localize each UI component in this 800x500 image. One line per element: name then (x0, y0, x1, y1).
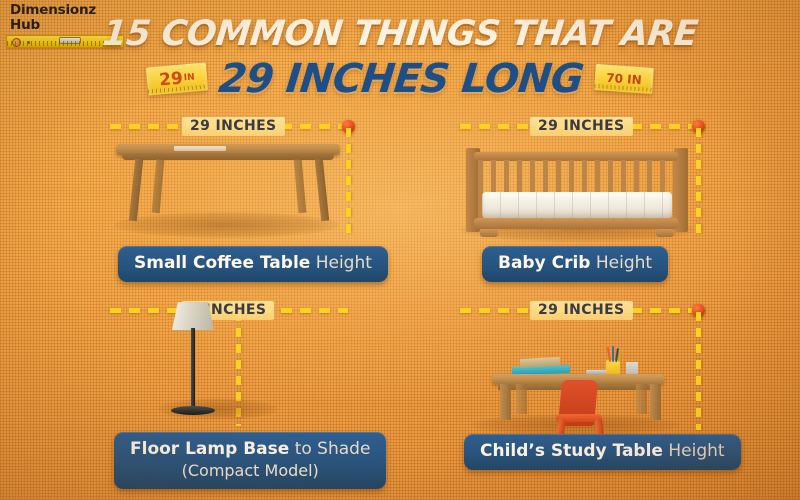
tape-measure-right-icon: 70 IN (594, 64, 654, 94)
coffee-table-illustration (110, 140, 346, 240)
item-childs-study-table: 29 INCHES Child’s Study Table (460, 308, 710, 488)
floor-lamp-illustration (110, 302, 346, 426)
table-leg (294, 159, 307, 213)
lamp-base (171, 406, 215, 415)
crib-foot-right (656, 229, 674, 237)
item-label-bold: Floor Lamp Base (130, 439, 289, 459)
table-leg (129, 159, 143, 221)
lamp-pole (191, 328, 195, 410)
measurement-label: 29 INCHES (182, 117, 285, 136)
baby-crib-illustration (460, 140, 700, 244)
crib-mattress (482, 192, 672, 218)
item-label-light: to Shade (295, 439, 371, 459)
headline-row-2: 29IN 29 INCHES LONG 70 IN (0, 56, 800, 102)
desk-leg (516, 384, 527, 414)
tape-left-value: 29 (158, 69, 183, 91)
pencil (612, 346, 614, 362)
table-apron (122, 153, 334, 160)
lamp-shade (172, 302, 214, 330)
item-label-banner: Baby Crib Height (482, 246, 668, 282)
measurement-label: 29 INCHES (530, 301, 633, 320)
dimension-line-vertical (346, 128, 351, 240)
item-label-bold: Small Coffee Table (134, 253, 310, 273)
item-label-banner: Child’s Study Table Height (464, 434, 741, 470)
item-label-light: Height (668, 441, 724, 461)
desk-leg (500, 384, 511, 420)
measurement-label: 29 INCHES (530, 117, 633, 136)
desk-leg (650, 384, 661, 420)
dimension-line-vertical (696, 312, 701, 430)
item-label-light: Height (316, 253, 372, 273)
table-leg (315, 159, 329, 221)
item-label-banner: Small Coffee Table Height (118, 246, 388, 282)
item-label-sub: (Compact Model) (130, 460, 370, 481)
crib-bottom-rail (474, 218, 678, 229)
table-top-inlay (174, 146, 226, 151)
item-label-bold: Baby Crib (498, 253, 590, 273)
item-label-bold: Child’s Study Table (480, 441, 663, 461)
mattress-quilting (482, 192, 672, 218)
object-shadow (114, 212, 339, 238)
item-baby-crib: 29 INCHES Baby Crib Height (460, 124, 710, 284)
tape-right-value: 70 IN (606, 71, 642, 87)
desk-leg (636, 384, 647, 414)
item-floor-lamp: 1 INCHES Floor Lamp Base to Shade (Compa… (110, 308, 350, 488)
headline-line-2: 29 INCHES LONG (217, 56, 586, 102)
crib-foot-left (480, 229, 498, 237)
table-leg (152, 159, 165, 213)
item-label-light: Height (596, 253, 652, 273)
item-label-banner: Floor Lamp Base to Shade (Compact Model) (114, 432, 386, 489)
study-table-illustration (460, 322, 696, 432)
infographic-poster: Dimensionz Hub 15 COMMON THINGS THAT ARE… (0, 0, 800, 500)
headline-line-1: 15 COMMON THINGS THAT ARE (0, 14, 800, 54)
tape-left-unit: IN (183, 72, 195, 83)
tape-measure-left-icon: 29IN (146, 62, 208, 95)
item-small-coffee-table: 29 INCHES Small Coffee Table Height (110, 124, 350, 284)
